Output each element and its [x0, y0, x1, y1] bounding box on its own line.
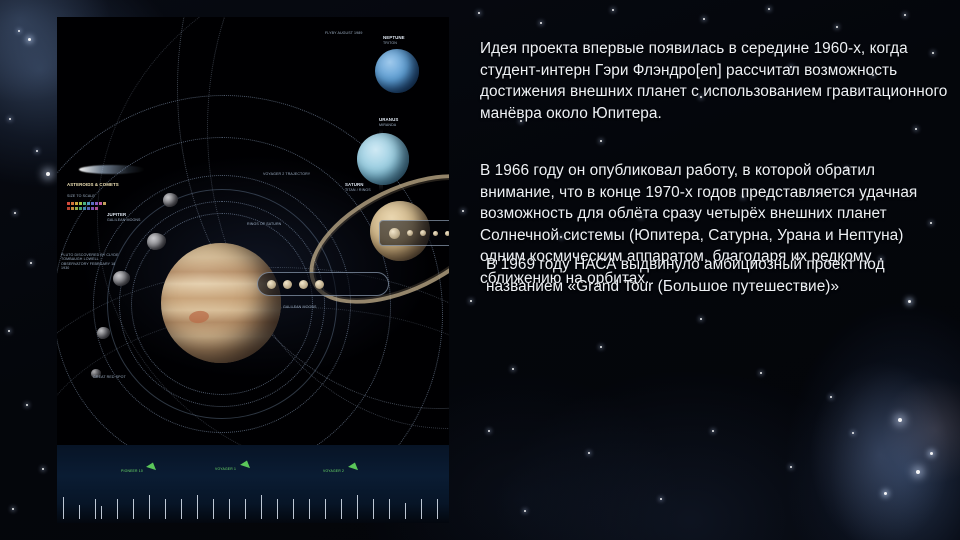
spacecraft-icon-pioneer-10 [146, 461, 158, 470]
label-uranus-sub: MIRANDA [379, 123, 396, 127]
moon-titan [389, 228, 400, 239]
mission-timeline: PIONEER 10 VOYAGER 1 VOYAGER 2 [57, 445, 449, 523]
callout-flyby: FLYBY AUGUST 1989 [325, 31, 377, 35]
planet-neptune [375, 49, 419, 93]
legend-detail: PLUTO DISCOVERED BY CLYDE TOMBAUGH LOWEL… [61, 253, 123, 271]
label-jupiter: JUPITER [107, 212, 126, 218]
label-uranus: URANUS [379, 117, 398, 123]
label-saturn: SATURN [345, 182, 364, 188]
timeline-label-pioneer-10: PIONEER 10 [121, 469, 143, 473]
moon-dione [420, 230, 426, 236]
timeline-label-voyager-2: VOYAGER 2 [323, 469, 344, 473]
legend-subtitle: SIZE TO SCALE [67, 194, 95, 198]
legend-title: ASTEROIDS & COMETS [67, 182, 119, 188]
label-neptune: NEPTUNE [383, 35, 405, 41]
moon-mimas [445, 231, 449, 236]
moon-tethys [433, 231, 438, 236]
legend-swatches-2 [67, 207, 98, 210]
grand-tour-diagram-image: NEPTUNE TRITON URANUS MIRANDA SATURN TIT… [57, 17, 449, 523]
label-jupiter-sub: GALILEAN MOONS [107, 218, 141, 222]
spacecraft-icon-voyager-2 [348, 461, 360, 470]
moon-callisto [315, 280, 324, 289]
moon-io [267, 280, 276, 289]
label-saturn-sub: TITAN / RINGS [345, 188, 371, 192]
callout-rings: RINGS OF SATURN [247, 222, 299, 226]
legend-swatches [67, 202, 106, 205]
callout-grs: GREAT RED SPOT [93, 375, 145, 379]
callout-galilean: GALILEAN MOONS [283, 305, 335, 309]
planet-uranus [357, 133, 409, 185]
callout-trajectory: VOYAGER 2 TRAJECTORY [263, 172, 315, 176]
paragraph-1969-nasa-grand-tour: В 1969 году НАСА выдвинуло амбициозный п… [486, 254, 952, 297]
galilean-moons-callout [257, 272, 389, 296]
comet-icon [79, 165, 145, 174]
slide-root: NEPTUNE TRITON URANUS MIRANDA SATURN TIT… [0, 0, 960, 540]
spacecraft-icon-voyager-1 [240, 459, 252, 468]
planet-jupiter [161, 243, 281, 363]
moon-europa [283, 280, 292, 289]
moon-ganymede [299, 280, 308, 289]
label-neptune-sub: TRITON [383, 41, 397, 45]
moon-rhea [407, 230, 413, 236]
paragraph-origin-of-project: Идея проекта впервые появилась в середин… [480, 38, 948, 124]
saturn-moons-callout [379, 220, 449, 246]
timeline-label-voyager-1: VOYAGER 1 [215, 467, 236, 471]
